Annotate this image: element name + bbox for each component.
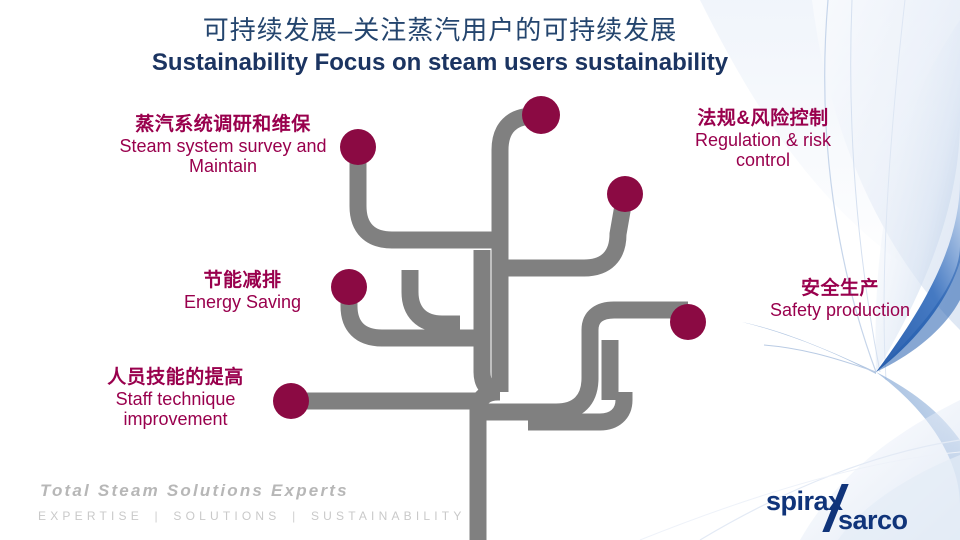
spirax-sarco-logo: spirax sarco <box>766 486 951 534</box>
node-label-energy-saving-en: Energy Saving <box>140 292 345 312</box>
branch-inner-hook <box>410 270 460 324</box>
branch-to-steam-survey <box>358 147 500 240</box>
footer-tagline: Total Steam Solutions Experts <box>40 481 349 501</box>
logo-word-sarco: sarco <box>838 505 908 536</box>
node-dot-risk-secondary <box>607 176 643 212</box>
node-label-energy-saving-cn: 节能减排 <box>140 270 345 291</box>
footer-pillar-separator-2: | <box>288 509 303 523</box>
node-label-staff-technique-en: Staff technique improvement <box>68 389 283 429</box>
node-label-steam-survey-cn: 蒸汽系统调研和维保 <box>108 114 338 135</box>
footer-pillars: EXPERTISE | SOLUTIONS | SUSTAINABILITY <box>38 509 466 523</box>
node-label-steam-survey: 蒸汽系统调研和维保 Steam system survey and Mainta… <box>108 114 338 177</box>
node-label-safety-production-cn: 安全生产 <box>735 278 945 299</box>
footer-pillar-solutions: SOLUTIONS <box>173 509 280 523</box>
footer-pillar-sustainability: SUSTAINABILITY <box>311 509 466 523</box>
node-label-safety-production-en: Safety production <box>735 300 945 320</box>
branch-to-safety-production <box>478 310 688 412</box>
footer-pillar-separator-1: | <box>150 509 165 523</box>
branch-to-top-node <box>500 116 541 392</box>
node-label-staff-technique: 人员技能的提高 Staff technique improvement <box>68 367 283 430</box>
node-label-regulation-risk: 法规&风险控制 Regulation & risk control <box>668 108 858 171</box>
branch-to-right-node <box>500 194 625 268</box>
node-label-regulation-risk-cn: 法规&风险控制 <box>668 108 858 129</box>
node-label-regulation-risk-en: Regulation & risk control <box>668 130 858 170</box>
node-dot-steam-survey <box>340 129 376 165</box>
node-dot-safety-production <box>670 304 706 340</box>
node-dot-regulation-risk <box>522 96 560 134</box>
presentation-slide: 可持续发展–关注蒸汽用户的可持续发展 Sustainability Focus … <box>0 0 960 540</box>
node-label-staff-technique-cn: 人员技能的提高 <box>68 367 283 388</box>
node-label-energy-saving: 节能减排 Energy Saving <box>140 270 345 312</box>
footer-pillar-expertise: EXPERTISE <box>38 509 143 523</box>
node-label-steam-survey-en: Steam system survey and Maintain <box>108 136 338 176</box>
node-label-safety-production: 安全生产 Safety production <box>735 278 945 320</box>
